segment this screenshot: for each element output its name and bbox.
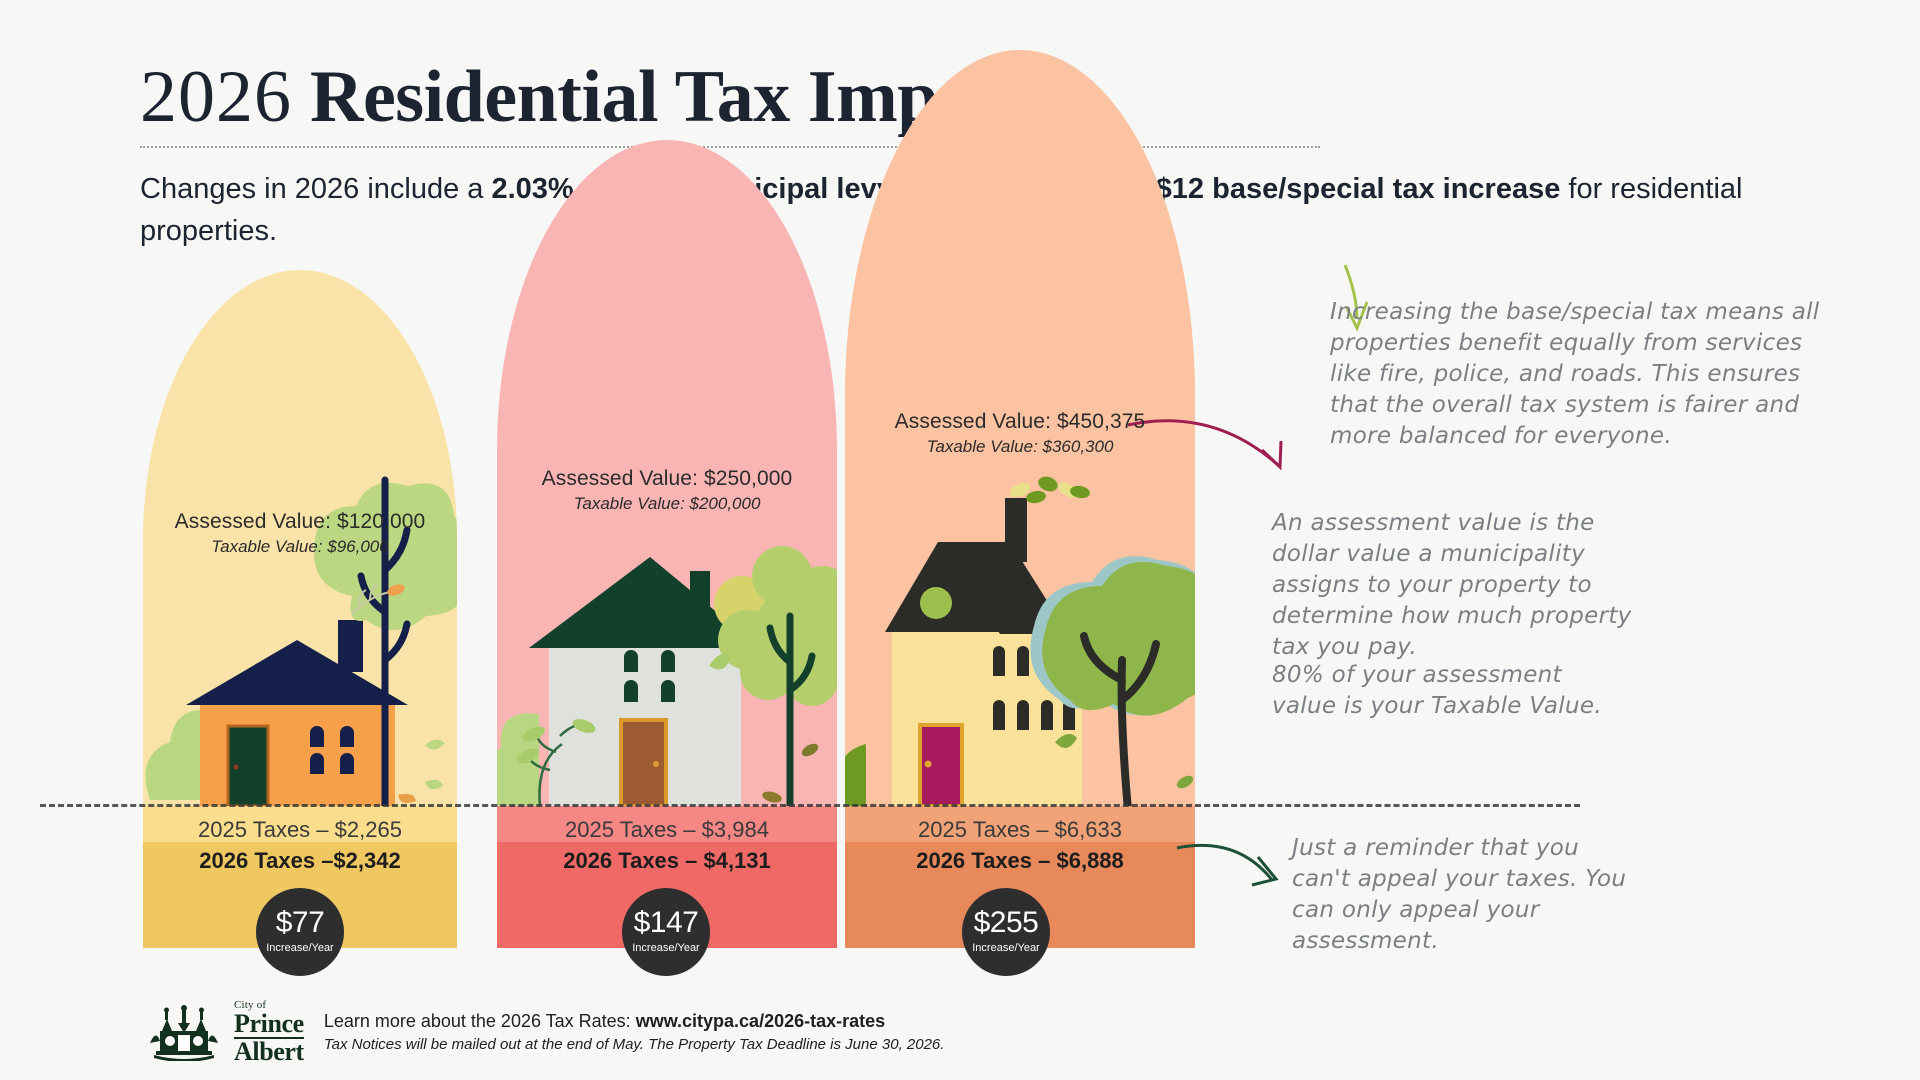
tax-2026-2: 2026 Taxes – $4,131 bbox=[497, 845, 837, 876]
badge-label-1: Increase/Year bbox=[266, 940, 333, 956]
increase-badge-3: $255 Increase/Year bbox=[962, 888, 1050, 976]
tax-label-1: 2025 Taxes – $2,265 2026 Taxes –$2,342 bbox=[143, 814, 457, 876]
arrow-magenta-head bbox=[1262, 441, 1281, 467]
house-window bbox=[1017, 700, 1029, 730]
subtitle: Changes in 2026 include a 2.03% general … bbox=[140, 168, 1820, 252]
plant-icon bbox=[526, 724, 590, 806]
leaf-icon bbox=[521, 723, 548, 744]
leaf-icon bbox=[1025, 489, 1047, 504]
note-taxable-value: 80% of your assessment value is your Tax… bbox=[1272, 660, 1612, 722]
footer-url[interactable]: www.citypa.ca/2026-tax-rates bbox=[636, 1011, 885, 1031]
house-door-3 bbox=[920, 725, 962, 806]
badge-amount-3: $255 bbox=[974, 908, 1039, 938]
tax-2025-1: 2025 Taxes – $2,265 bbox=[143, 814, 457, 845]
city-wordmark: City of Prince Albert bbox=[234, 1000, 304, 1065]
tax-2025-3: 2025 Taxes – $6,633 bbox=[845, 814, 1195, 845]
badge-label-3: Increase/Year bbox=[972, 940, 1039, 956]
branch-icon bbox=[352, 584, 390, 614]
subtitle-bold2: $12 base/special tax increase bbox=[1156, 173, 1561, 205]
footer-learn-more: Learn more about the 2026 Tax Rates: www… bbox=[324, 1009, 945, 1034]
leaf-icon bbox=[1007, 480, 1032, 500]
house-door-2 bbox=[621, 720, 666, 806]
house-window bbox=[310, 753, 324, 774]
tax-2026-1: 2026 Taxes –$2,342 bbox=[143, 845, 457, 876]
leaf-icon bbox=[1069, 484, 1091, 499]
house-wall-2 bbox=[549, 648, 741, 806]
chimney-icon bbox=[690, 571, 710, 617]
title-divider bbox=[140, 146, 1320, 148]
note-base-special-tax: Increasing the base/special tax means al… bbox=[1330, 297, 1830, 452]
tree-outline-icon bbox=[1030, 556, 1218, 715]
house-roof-3 bbox=[885, 542, 1065, 632]
subtitle-part1: Changes in 2026 include a bbox=[140, 173, 491, 205]
assessed-value-3: Assessed Value: $450,375 bbox=[845, 408, 1195, 435]
leaf-icon bbox=[1175, 773, 1196, 791]
value-label-2: Assessed Value: $250,000 Taxable Value: … bbox=[497, 465, 837, 515]
subtitle-part2: and a net bbox=[1019, 173, 1156, 205]
house-roof-1 bbox=[186, 640, 408, 705]
taxable-value-1: Taxable Value: $96,000 bbox=[143, 535, 457, 558]
house-window bbox=[310, 726, 324, 747]
house-window bbox=[1063, 700, 1075, 730]
house-wall-3 bbox=[892, 632, 1082, 806]
badge-amount-2: $147 bbox=[634, 908, 699, 938]
house-roof-2 bbox=[529, 557, 760, 648]
tree-trunk-icon bbox=[1084, 636, 1156, 810]
house-window bbox=[624, 650, 638, 672]
house-window bbox=[661, 650, 675, 672]
leaf-icon bbox=[425, 780, 443, 789]
footer-text: Learn more about the 2026 Tax Rates: www… bbox=[324, 1009, 945, 1056]
shrub-icon bbox=[146, 699, 292, 800]
footer-deadline: Tax Notices will be mailed out at the en… bbox=[324, 1034, 945, 1056]
house-window bbox=[1041, 646, 1053, 676]
round-window-icon bbox=[920, 587, 952, 619]
leaf-icon bbox=[761, 790, 783, 805]
house-window bbox=[993, 646, 1005, 676]
wordmark-albert: Albert bbox=[234, 1037, 304, 1065]
leaf-icon bbox=[515, 745, 542, 766]
ground-line bbox=[40, 804, 1580, 807]
leaf-icon bbox=[709, 654, 731, 670]
assessed-value-2: Assessed Value: $250,000 bbox=[497, 465, 837, 492]
title-year: 2026 bbox=[140, 56, 292, 138]
leaf-icon bbox=[1036, 474, 1060, 494]
footer-line1-plain: Learn more about the 2026 Tax Rates: bbox=[324, 1011, 636, 1031]
house-window bbox=[1041, 700, 1053, 730]
arrow-darkgreen-head bbox=[1252, 857, 1276, 885]
house-window bbox=[624, 680, 638, 702]
tree-foliage-icon bbox=[1042, 562, 1224, 716]
city-crest-icon bbox=[148, 1005, 220, 1061]
house-window bbox=[340, 753, 354, 774]
chimney-icon bbox=[1005, 498, 1027, 562]
shrub-icon bbox=[836, 744, 866, 806]
tax-2025-2: 2025 Taxes – $3,984 bbox=[497, 814, 837, 845]
footer: City of Prince Albert Learn more about t… bbox=[148, 1000, 944, 1065]
increase-badge-1: $77 Increase/Year bbox=[256, 888, 344, 976]
badge-amount-1: $77 bbox=[276, 908, 325, 938]
title-rest: Residential Tax Impact bbox=[310, 56, 1031, 138]
page-title: 2026 Residential Tax Impact bbox=[140, 58, 1320, 136]
subtitle-bold1: 2.03% general municipal levy increase bbox=[491, 173, 1018, 205]
increase-badge-2: $147 Increase/Year bbox=[622, 888, 710, 976]
value-label-3: Assessed Value: $450,375 Taxable Value: … bbox=[845, 408, 1195, 458]
tree-foliage-icon bbox=[714, 546, 860, 706]
chimney-icon bbox=[338, 620, 363, 672]
leaf-icon bbox=[1055, 479, 1080, 500]
taxable-value-3: Taxable Value: $360,300 bbox=[845, 435, 1195, 458]
taxable-value-2: Taxable Value: $200,000 bbox=[497, 492, 837, 515]
leaf-icon bbox=[1055, 734, 1077, 748]
house-roof-3b bbox=[938, 542, 1068, 634]
value-label-1: Assessed Value: $120,000 Taxable Value: … bbox=[143, 508, 457, 558]
leaf-icon bbox=[800, 741, 821, 759]
assessed-value-1: Assessed Value: $120,000 bbox=[143, 508, 457, 535]
header: 2026 Residential Tax Impact Changes in 2… bbox=[140, 58, 1320, 252]
house-window bbox=[1017, 646, 1029, 676]
note-assessment-value: An assessment value is the dollar value … bbox=[1272, 508, 1642, 663]
leaf-icon bbox=[386, 582, 406, 598]
house-door-1 bbox=[228, 726, 268, 806]
leaf-icon bbox=[425, 739, 445, 749]
leaf-icon bbox=[398, 794, 416, 803]
tax-label-3: 2025 Taxes – $6,633 2026 Taxes – $6,888 bbox=[845, 814, 1195, 876]
house-window bbox=[340, 726, 354, 747]
house-window bbox=[661, 680, 675, 702]
badge-label-2: Increase/Year bbox=[632, 940, 699, 956]
tree-trunk-icon bbox=[770, 616, 812, 806]
leaf-icon bbox=[571, 716, 598, 735]
shrub-icon bbox=[482, 713, 539, 806]
note-appeal-reminder: Just a reminder that you can't appeal yo… bbox=[1292, 833, 1642, 957]
house-window bbox=[993, 700, 1005, 730]
tax-label-2: 2025 Taxes – $3,984 2026 Taxes – $4,131 bbox=[497, 814, 837, 876]
wordmark-prince: Prince bbox=[234, 1011, 304, 1037]
tax-2026-3: 2026 Taxes – $6,888 bbox=[845, 845, 1195, 876]
house-wall-1 bbox=[200, 705, 395, 806]
